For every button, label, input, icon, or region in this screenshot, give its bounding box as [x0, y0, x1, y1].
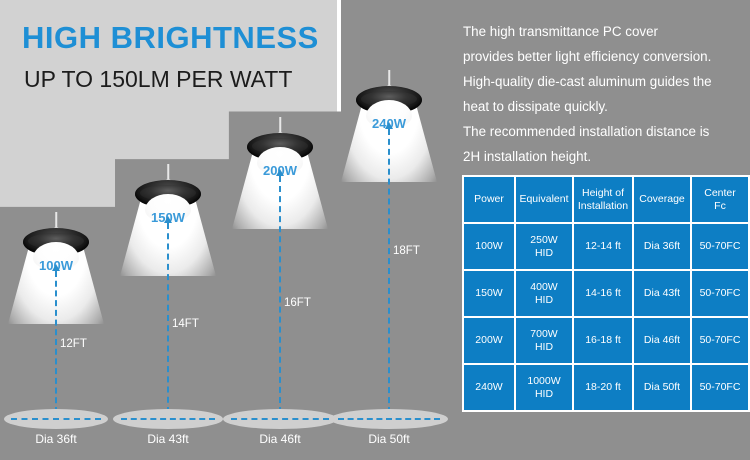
equivalent-value: 250W	[530, 234, 557, 246]
cell-power: 240W	[464, 365, 514, 410]
cell-height: 12-14 ft	[574, 224, 632, 269]
coverage-label-200w: Dia 46ft	[259, 432, 300, 446]
page-title: HIGH BRIGHTNESS	[22, 20, 319, 56]
description-line: 2H installation height.	[463, 144, 745, 169]
coverage-dash	[121, 418, 216, 420]
cell-equivalent: 400W HID	[516, 271, 572, 316]
measure-line-240w	[388, 129, 390, 413]
coverage-label-150w: Dia 43ft	[147, 432, 188, 446]
coverage-ellipse-100w	[4, 409, 108, 429]
coverage-label-240w: Dia 50ft	[368, 432, 409, 446]
table-row: 240W 1000W HID 18-20 ft Dia 50ft 50-70FC	[464, 365, 748, 410]
table-header-row: Power Equivalent Height of Installation …	[464, 177, 748, 222]
equivalent-type: HID	[535, 247, 553, 259]
cell-coverage: Dia 50ft	[634, 365, 690, 410]
cell-center-fc: 50-70FC	[692, 224, 748, 269]
coverage-label-100w: Dia 36ft	[35, 432, 76, 446]
cell-center-fc: 50-70FC	[692, 271, 748, 316]
description-line: The high transmittance PC cover	[463, 19, 745, 44]
coverage-dash	[231, 418, 329, 420]
coverage-ellipse-200w	[223, 409, 337, 429]
equivalent-type: HID	[535, 341, 553, 353]
cell-power: 150W	[464, 271, 514, 316]
table-row: 150W 400W HID 14-16 ft Dia 43ft 50-70FC	[464, 271, 748, 316]
cell-power: 200W	[464, 318, 514, 363]
header-line: Installation	[578, 200, 628, 212]
measure-arrow-icon	[52, 264, 60, 271]
column-header-coverage: Coverage	[634, 177, 690, 222]
equivalent-value: 1000W	[527, 375, 560, 387]
equivalent-type: HID	[535, 388, 553, 400]
description-line: The recommended installation distance is	[463, 119, 745, 144]
cell-center-fc: 50-70FC	[692, 318, 748, 363]
table-row: 200W 700W HID 16-18 ft Dia 46ft 50-70FC	[464, 318, 748, 363]
description-line: High-quality die-cast aluminum guides th…	[463, 69, 745, 94]
column-header-equivalent: Equivalent	[516, 177, 572, 222]
table-row: 100W 250W HID 12-14 ft Dia 36ft 50-70FC	[464, 224, 748, 269]
header-line: Center	[704, 187, 736, 199]
page-subtitle: UP TO 150LM PER WATT	[24, 66, 292, 93]
cell-coverage: Dia 43ft	[634, 271, 690, 316]
description-line: heat to dissipate quickly.	[463, 94, 745, 119]
cell-center-fc: 50-70FC	[692, 365, 748, 410]
infographic-canvas: HIGH BRIGHTNESS UP TO 150LM PER WATT The…	[0, 0, 750, 460]
measure-arrow-icon	[385, 122, 393, 129]
coverage-ellipse-240w	[330, 409, 448, 429]
cell-height: 18-20 ft	[574, 365, 632, 410]
cell-power: 100W	[464, 224, 514, 269]
cell-height: 16-18 ft	[574, 318, 632, 363]
product-description: The high transmittance PC cover provides…	[463, 19, 745, 169]
measure-arrow-icon	[164, 216, 172, 223]
measure-label-100w: 12FT	[60, 338, 87, 350]
specification-table: Power Equivalent Height of Installation …	[462, 175, 750, 412]
header-line: Height of	[582, 187, 624, 199]
measure-label-240w: 18FT	[393, 245, 420, 257]
coverage-dash	[338, 418, 439, 420]
description-line: provides better light efficiency convers…	[463, 44, 745, 69]
cell-coverage: Dia 36ft	[634, 224, 690, 269]
column-header-height: Height of Installation	[574, 177, 632, 222]
column-header-power: Power	[464, 177, 514, 222]
cell-height: 14-16 ft	[574, 271, 632, 316]
cell-equivalent: 1000W HID	[516, 365, 572, 410]
header-line: Fc	[714, 200, 726, 212]
equivalent-type: HID	[535, 294, 553, 306]
measure-line-100w	[55, 271, 57, 413]
measure-line-200w	[279, 176, 281, 413]
measure-arrow-icon	[276, 169, 284, 176]
coverage-ellipse-150w	[113, 409, 223, 429]
coverage-dash	[11, 418, 100, 420]
equivalent-value: 400W	[530, 281, 557, 293]
measure-label-200w: 16FT	[284, 297, 311, 309]
measure-label-150w: 14FT	[172, 318, 199, 330]
cell-coverage: Dia 46ft	[634, 318, 690, 363]
measure-line-150w	[167, 223, 169, 413]
cell-equivalent: 700W HID	[516, 318, 572, 363]
column-header-center-fc: Center Fc	[692, 177, 748, 222]
equivalent-value: 700W	[530, 328, 557, 340]
cell-equivalent: 250W HID	[516, 224, 572, 269]
